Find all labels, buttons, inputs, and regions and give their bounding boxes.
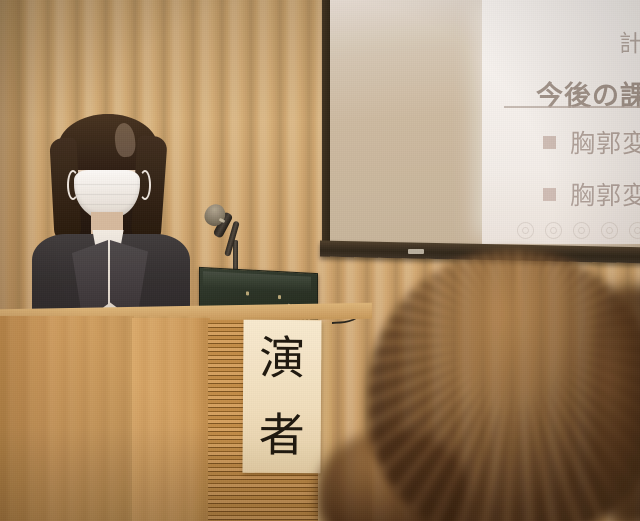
speaker-person xyxy=(36,108,186,338)
laptop-indicator-light xyxy=(246,291,249,295)
presenter-sign: 演 者 xyxy=(242,320,321,474)
slide-bullet-label: 胸郭変 xyxy=(570,176,640,212)
slide-top-text: 計 xyxy=(619,24,640,58)
square-bullet-icon xyxy=(543,136,556,149)
circle-icon xyxy=(545,222,562,239)
slide-bullet-label: 胸郭変 xyxy=(570,124,640,160)
slide-bullet-item: 胸郭変 xyxy=(543,176,640,212)
square-bullet-icon xyxy=(543,188,556,201)
circle-icon xyxy=(517,222,534,239)
circle-icon xyxy=(573,222,590,239)
presenter-sign-char-2: 者 xyxy=(259,412,305,458)
circle-icon xyxy=(629,222,640,239)
speaker-hair-parting xyxy=(113,122,136,158)
presentation-photo: 計 今後の課 胸郭変 胸郭変 xyxy=(0,0,640,521)
mask-pleat xyxy=(74,204,140,205)
slide-bullet-item: 胸郭変 xyxy=(543,124,640,160)
laptop-screen-sheen xyxy=(203,271,311,293)
circle-icon xyxy=(601,222,618,239)
face-mask-strap-right xyxy=(139,170,151,200)
slide-footer-icon-row xyxy=(517,222,640,239)
projection-screen: 計 今後の課 胸郭変 胸郭変 xyxy=(322,0,640,262)
presenter-sign-char-1: 演 xyxy=(259,335,305,381)
audience-head-right-edge xyxy=(596,286,640,521)
slide-content: 計 今後の課 胸郭変 胸郭変 xyxy=(322,0,640,248)
mask-pleat xyxy=(74,194,140,195)
screen-pull-tab xyxy=(408,249,424,254)
laptop-indicator-light xyxy=(278,295,281,299)
slide-heading-underline xyxy=(504,106,640,108)
mask-pleat xyxy=(74,184,140,185)
